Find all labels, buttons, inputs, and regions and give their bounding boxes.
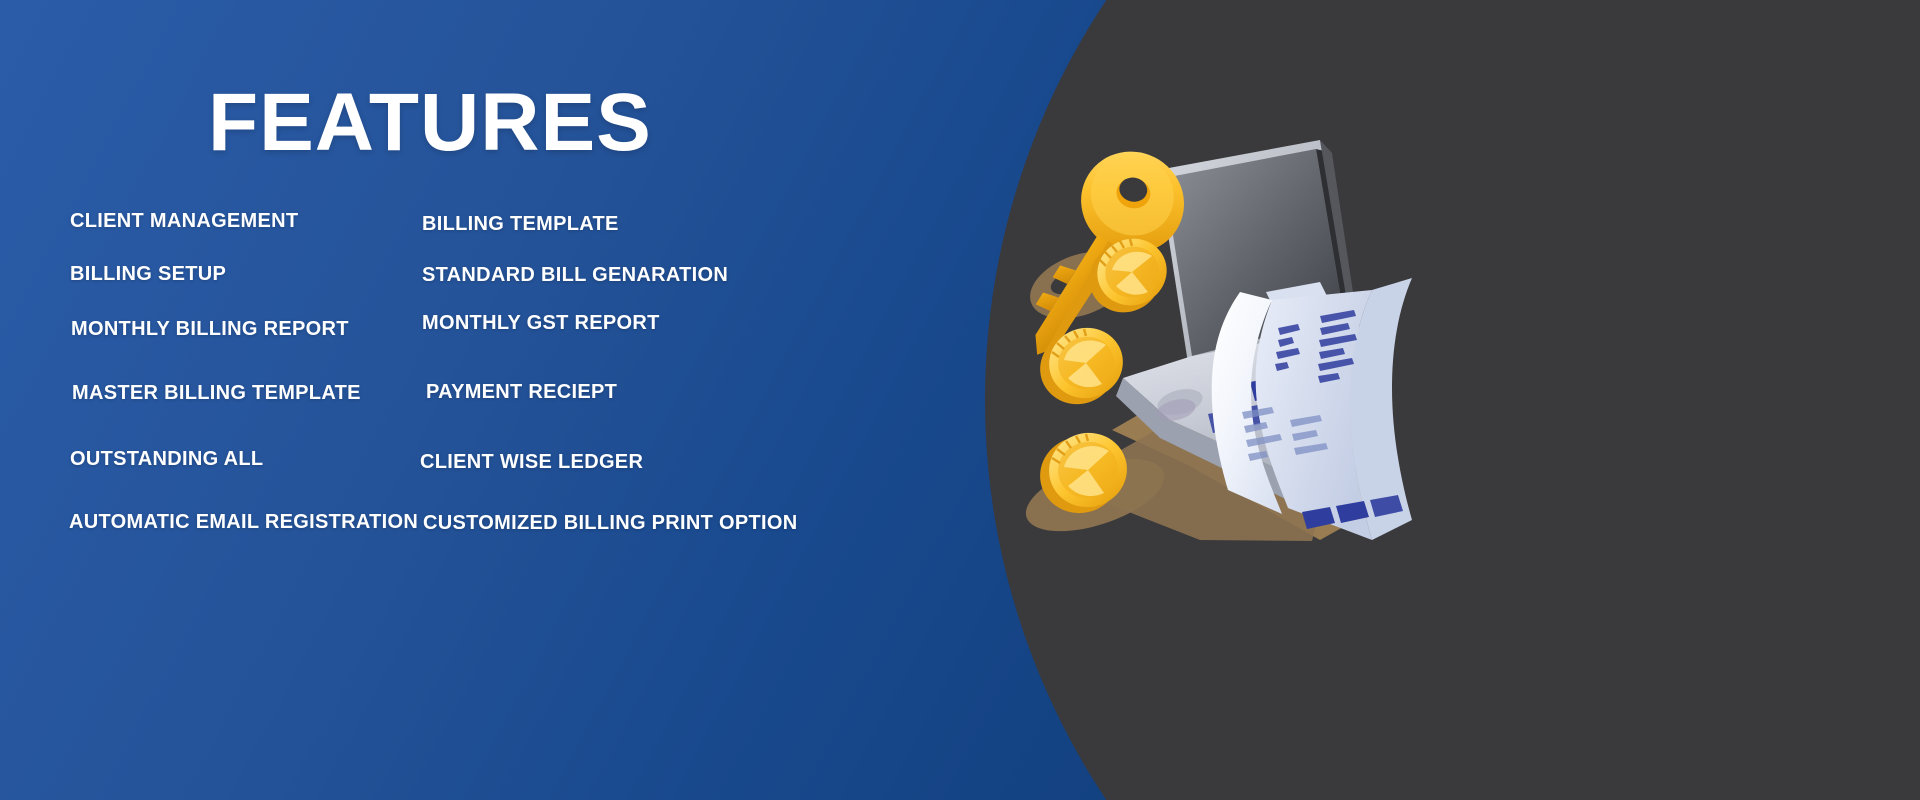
feature-item-client-wise-ledger[interactable]: CLIENT WISE LEDGER (420, 451, 643, 474)
slide-canvas: FEATURES CLIENT MANAGEMENT BILLING SETUP… (0, 0, 1920, 800)
features-list: CLIENT MANAGEMENT BILLING SETUP MONTHLY … (0, 0, 960, 800)
billing-illustration (1020, 120, 1500, 600)
feature-item-outstanding-all[interactable]: OUTSTANDING ALL (70, 448, 263, 471)
feature-item-billing-setup[interactable]: BILLING SETUP (70, 263, 226, 286)
feature-item-client-management[interactable]: CLIENT MANAGEMENT (70, 210, 298, 233)
feature-item-payment-reciept[interactable]: PAYMENT RECIEPT (426, 381, 617, 404)
feature-item-master-billing-template[interactable]: MASTER BILLING TEMPLATE (72, 382, 361, 405)
feature-item-standard-bill-genaration[interactable]: STANDARD BILL GENARATION (422, 264, 728, 287)
feature-item-customized-billing-print-option[interactable]: CUSTOMIZED BILLING PRINT OPTION (423, 512, 798, 535)
feature-item-monthly-gst-report[interactable]: MONTHLY GST REPORT (422, 312, 660, 335)
feature-item-automatic-email-registration[interactable]: AUTOMATIC EMAIL REGISTRATION (69, 511, 418, 534)
feature-item-monthly-billing-report[interactable]: MONTHLY BILLING REPORT (71, 318, 349, 341)
feature-item-billing-template[interactable]: BILLING TEMPLATE (422, 213, 619, 236)
